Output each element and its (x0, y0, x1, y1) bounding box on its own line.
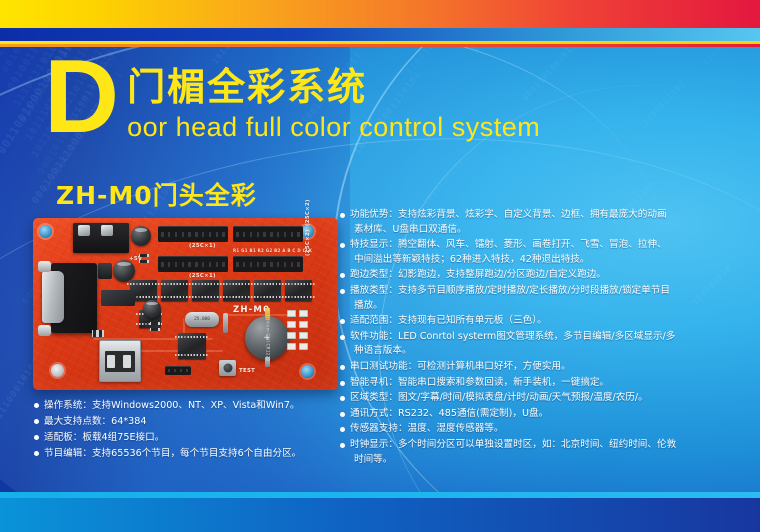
crystal-oscillator: 25.000 (185, 312, 219, 327)
brand-letter-d: D (44, 54, 117, 140)
feature-label: 区域类型 (350, 392, 388, 403)
battery-polarity: + (263, 333, 271, 343)
feature-text-line2: 素材库、U盘串口双通信。 (350, 223, 756, 238)
feature-label: 智能寻机 (350, 377, 388, 388)
jumper-header (165, 366, 191, 375)
pcb-inductor (131, 226, 151, 246)
feature-label: 特技显示 (350, 239, 388, 250)
coin-cell-battery: Lithium Cell CR1220 + (245, 316, 289, 360)
feature-text: ：幻影跑边，支持整屏跑边/分区跑边/自定义跑边。 (388, 269, 606, 280)
pcb-capacitor (113, 260, 135, 282)
solder-pad (287, 321, 296, 328)
feature-label: 播放类型 (350, 285, 388, 296)
feature-text: ：可检测计算机串口好坏，方便实用。 (408, 361, 571, 372)
driver-ic (161, 280, 188, 301)
feature-text: ：RS232、485通信(需定制)，U盘。 (388, 408, 548, 419)
headline-block: D 门楣全彩系统 oor head full color control sys… (44, 58, 540, 144)
pcb-resistor (140, 254, 147, 257)
poster-canvas: 0000010100000010000111010010000111101010… (0, 0, 760, 532)
feature-text: ：支持现有已知所有单元板（三色）。 (388, 315, 546, 326)
feature-text-line2: 种语言版本。 (350, 344, 756, 359)
feature-item: 特技显示：腾空翻体、风车、镭射、菱形、画卷打开、飞雪、冒泡、拉伸、中间溢出等新颖… (340, 238, 756, 267)
top-gradient-bar (0, 0, 760, 28)
pcb-mounting-hole (301, 365, 314, 378)
solder-pad (299, 343, 308, 350)
driver-ic (285, 280, 312, 301)
feature-item: 功能优势：支持炫彩背景、炫彩字、自定义背景、边框、拥有最庞大的动画素材库、U盘串… (340, 208, 756, 237)
spec-item: 操作系统：支持Windows2000、NT、XP、Vista和Win7。 (34, 398, 344, 414)
idc-header-connector (158, 226, 228, 242)
db9-serial-connector (51, 263, 97, 333)
pcb-resistor (151, 328, 158, 331)
feature-text: ：图文/字幕/时间/模拟表盘/计时/动画/天气预报/温度/农历/。 (388, 392, 647, 403)
silk-connector-label-3: (25C×2) (305, 199, 311, 226)
pcb-product-image: +5V (25C×1) (25C×1) (25C×2) (33, 218, 338, 390)
feature-text: ：LED Conrtol systerm图文管理系统，多节目编辑/多区域显示/多 (388, 331, 675, 342)
feature-label: 时钟显示 (350, 439, 388, 450)
driver-ic (254, 280, 281, 301)
feature-text-line2: 时间等。 (350, 453, 756, 468)
page-title-english: oor head full color control system (127, 110, 540, 144)
feature-item: 串口测试功能：可检测计算机串口好坏，方便实用。 (340, 360, 756, 375)
pcb-resistor (99, 330, 102, 337)
solder-pad (299, 332, 308, 339)
feature-label: 串口测试功能 (350, 361, 408, 372)
feature-text: ：支持炫彩背景、炫彩字、自定义背景、边框、拥有最庞大的动画 (388, 209, 666, 220)
feature-item: 传感器支持：温度、湿度传感器等。 (340, 422, 756, 437)
solder-pad (299, 321, 308, 328)
pcb-crystal-small (223, 313, 228, 333)
feature-item: 区域类型：图文/字幕/时间/模拟表盘/计时/动画/天气预报/温度/农历/。 (340, 391, 756, 406)
feature-item: 播放类型：支持多节目顺序播放/定时播放/定长播放/分时段播放/锁定单节目播放。 (340, 284, 756, 313)
feature-item: 软件功能：LED Conrtol systerm图文管理系统，多节目编辑/多区域… (340, 330, 756, 359)
feature-item: 适配范围：支持现有已知所有单元板（三色）。 (340, 314, 756, 329)
silk-connector-label-2: (25C×1) (189, 273, 216, 279)
feature-text: ：腾空翻体、风车、镭射、菱形、画卷打开、飞雪、冒泡、拉伸、 (388, 239, 666, 250)
spec-item: 最大支持点数：64*384 (34, 414, 344, 430)
feature-label: 软件功能 (350, 331, 388, 342)
feature-label: 跑边类型 (350, 269, 388, 280)
solder-pad (287, 343, 296, 350)
idc-header-connector (233, 256, 303, 272)
feature-text: ：多个时间分区可以单独设置时区，如：北京时间、纽约时间、伦敦 (388, 439, 676, 450)
model-title: ZH-M0门头全彩 (56, 176, 257, 212)
idc-header-connector (233, 226, 303, 242)
pcb-resistor (93, 330, 96, 337)
pcb-resistor (140, 260, 147, 263)
silk-connector-label-1: (25C×1) (189, 243, 216, 249)
feature-item: 时钟显示：多个时间分区可以单独设置时区，如：北京时间、纽约时间、伦敦时间等。 (340, 438, 756, 467)
feature-list: 功能优势：支持炫彩背景、炫彩字、自定义背景、边框、拥有最庞大的动画素材库、U盘串… (340, 208, 756, 468)
idc-header-connector (158, 256, 228, 272)
spec-list: 操作系统：支持Windows2000、NT、XP、Vista和Win7。最大支持… (34, 398, 344, 462)
pcb-capacitor (143, 300, 161, 318)
driver-ic (192, 280, 219, 301)
feature-label: 通讯方式 (350, 408, 388, 419)
silk-test-label: TEST (239, 368, 255, 374)
feature-text-line2: 播放。 (350, 299, 756, 314)
feature-label: 传感器支持 (350, 423, 398, 434)
feature-item: 跑边类型：幻影跑边，支持整屏跑边/分区跑边/自定义跑边。 (340, 268, 756, 283)
microcontroller-ic (178, 333, 206, 359)
test-button[interactable] (219, 360, 236, 376)
silk-pin-markings: R1 G1 B1 R2 G2 B2 A B C D CLK (233, 248, 312, 253)
dip-ic (101, 290, 135, 306)
spec-item: 节目编辑：支持65536个节目，每个节目支持6个自由分区。 (34, 446, 344, 462)
driver-ic (223, 280, 250, 301)
solder-pad (299, 310, 308, 317)
pcb-mounting-hole (51, 364, 64, 377)
power-terminal-block (73, 223, 129, 253)
bottom-navy-bar (0, 498, 760, 532)
feature-text: ：智能串口搜索和参数回读，新手装机，一键搞定。 (388, 377, 609, 388)
feature-text: ：支持多节目顺序播放/定时播放/定长播放/分时段播放/锁定单节目 (388, 285, 670, 296)
feature-label: 适配范围 (350, 315, 388, 326)
feature-text: ：温度、湿度传感器等。 (398, 423, 504, 434)
usb-port (99, 340, 141, 382)
solder-pad (287, 310, 296, 317)
feature-text-line2: 中间溢出等新颖特技；62种进入特技，42种退出特技。 (350, 253, 756, 268)
solder-pad (287, 332, 296, 339)
feature-label: 功能优势 (350, 209, 388, 220)
feature-item: 智能寻机：智能串口搜索和参数回读，新手装机，一键搞定。 (340, 376, 756, 391)
page-title-chinese: 门楣全彩系统 (127, 66, 540, 108)
spec-item: 适配板：板载4组75E接口。 (34, 430, 344, 446)
pcb-regulator (98, 263, 112, 279)
pcb-mounting-hole (39, 225, 52, 238)
pcb-resistor (151, 322, 158, 325)
feature-item: 通讯方式：RS232、485通信(需定制)，U盘。 (340, 407, 756, 422)
